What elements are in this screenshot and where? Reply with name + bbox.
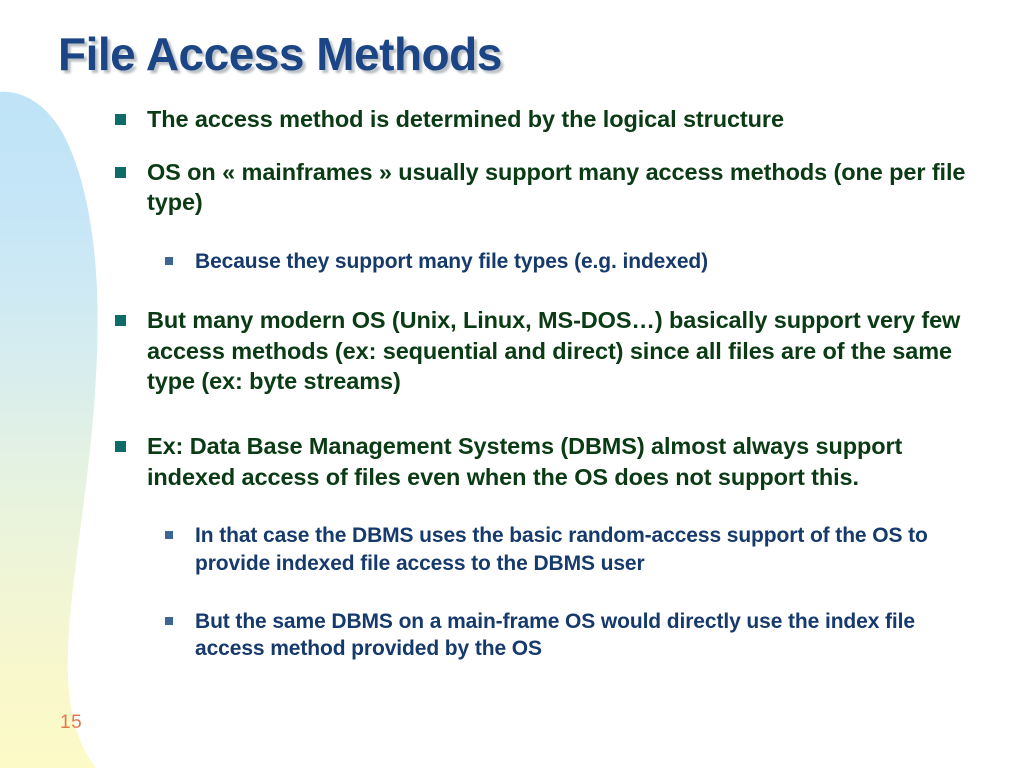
- presentation-slide: File Access Methods The access method is…: [0, 0, 1024, 768]
- slide-title: File Access Methods: [58, 30, 502, 78]
- bullet-level1: Ex: Data Base Management Systems (DBMS) …: [0, 431, 1024, 492]
- bullet-level1: The access method is determined by the l…: [0, 104, 1024, 135]
- bullet-text: The access method is determined by the l…: [147, 106, 784, 132]
- square-bullet-blue-icon: [165, 617, 173, 625]
- bullet-level2: In that case the DBMS uses the basic ran…: [0, 522, 1024, 577]
- bullet-text: Ex: Data Base Management Systems (DBMS) …: [147, 433, 902, 490]
- spacer: [0, 415, 1024, 431]
- square-bullet-teal-icon: [115, 441, 126, 452]
- spacer: [0, 596, 1024, 608]
- bullet-text: Because they support many file types (e.…: [195, 250, 708, 273]
- square-bullet-teal-icon: [115, 114, 126, 125]
- spacer: [0, 293, 1024, 305]
- bullet-text: OS on « mainframes » usually support man…: [147, 159, 965, 216]
- spacer: [0, 510, 1024, 522]
- bullet-text: But many modern OS (Unix, Linux, MS-DOS……: [147, 307, 960, 394]
- bullet-text: In that case the DBMS uses the basic ran…: [195, 524, 928, 575]
- bullet-text: But the same DBMS on a main-frame OS wou…: [195, 610, 915, 661]
- bullet-level2: Because they support many file types (e.…: [0, 248, 1024, 276]
- square-bullet-blue-icon: [165, 531, 173, 539]
- slide-body: The access method is determined by the l…: [0, 104, 1024, 681]
- bullet-level2: But the same DBMS on a main-frame OS wou…: [0, 608, 1024, 663]
- page-number: 15: [60, 712, 82, 734]
- square-bullet-blue-icon: [165, 257, 173, 265]
- square-bullet-teal-icon: [115, 315, 126, 326]
- square-bullet-teal-icon: [115, 167, 126, 178]
- bullet-level1: But many modern OS (Unix, Linux, MS-DOS……: [0, 305, 1024, 397]
- bullet-level1: OS on « mainframes » usually support man…: [0, 157, 1024, 218]
- spacer: [0, 236, 1024, 248]
